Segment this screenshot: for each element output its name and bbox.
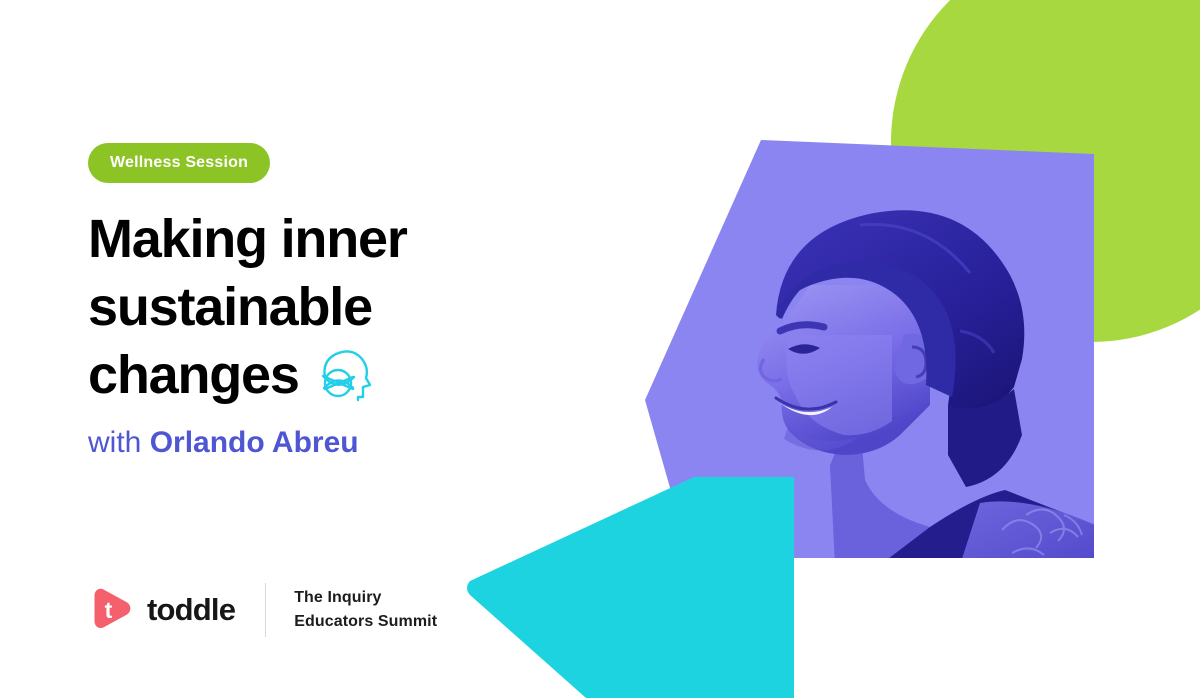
footer-divider bbox=[265, 583, 266, 637]
speaker-name: Orlando Abreu bbox=[150, 426, 359, 459]
headline-line-2: sustainable bbox=[88, 273, 528, 341]
speaker-credit: with Orlando Abreu bbox=[88, 424, 359, 462]
summit-line-1: The Inquiry bbox=[294, 586, 437, 610]
toddle-wordmark: toddle bbox=[147, 592, 235, 628]
footer-brand-lockup: t toddle The Inquiry Educators Summit bbox=[88, 583, 437, 637]
toddle-logo-letter: t bbox=[88, 587, 129, 634]
speaker-prefix: with bbox=[88, 426, 141, 459]
headline-line-3: changes bbox=[88, 341, 299, 409]
summit-name: The Inquiry Educators Summit bbox=[294, 586, 437, 634]
mind-head-icon bbox=[313, 347, 373, 403]
toddle-logo-mark-icon: t bbox=[88, 587, 135, 634]
headline-line-1: Making inner bbox=[88, 205, 528, 273]
content-column: Wellness Session Making inner sustainabl… bbox=[88, 0, 608, 700]
headline-line-3-row: changes bbox=[88, 341, 528, 409]
banner-canvas: Wellness Session Making inner sustainabl… bbox=[0, 0, 1200, 700]
session-type-badge: Wellness Session bbox=[88, 143, 270, 183]
page-title: Making inner sustainable changes bbox=[88, 205, 528, 409]
toddle-logo[interactable]: t toddle bbox=[88, 587, 235, 634]
summit-line-2: Educators Summit bbox=[294, 610, 437, 634]
